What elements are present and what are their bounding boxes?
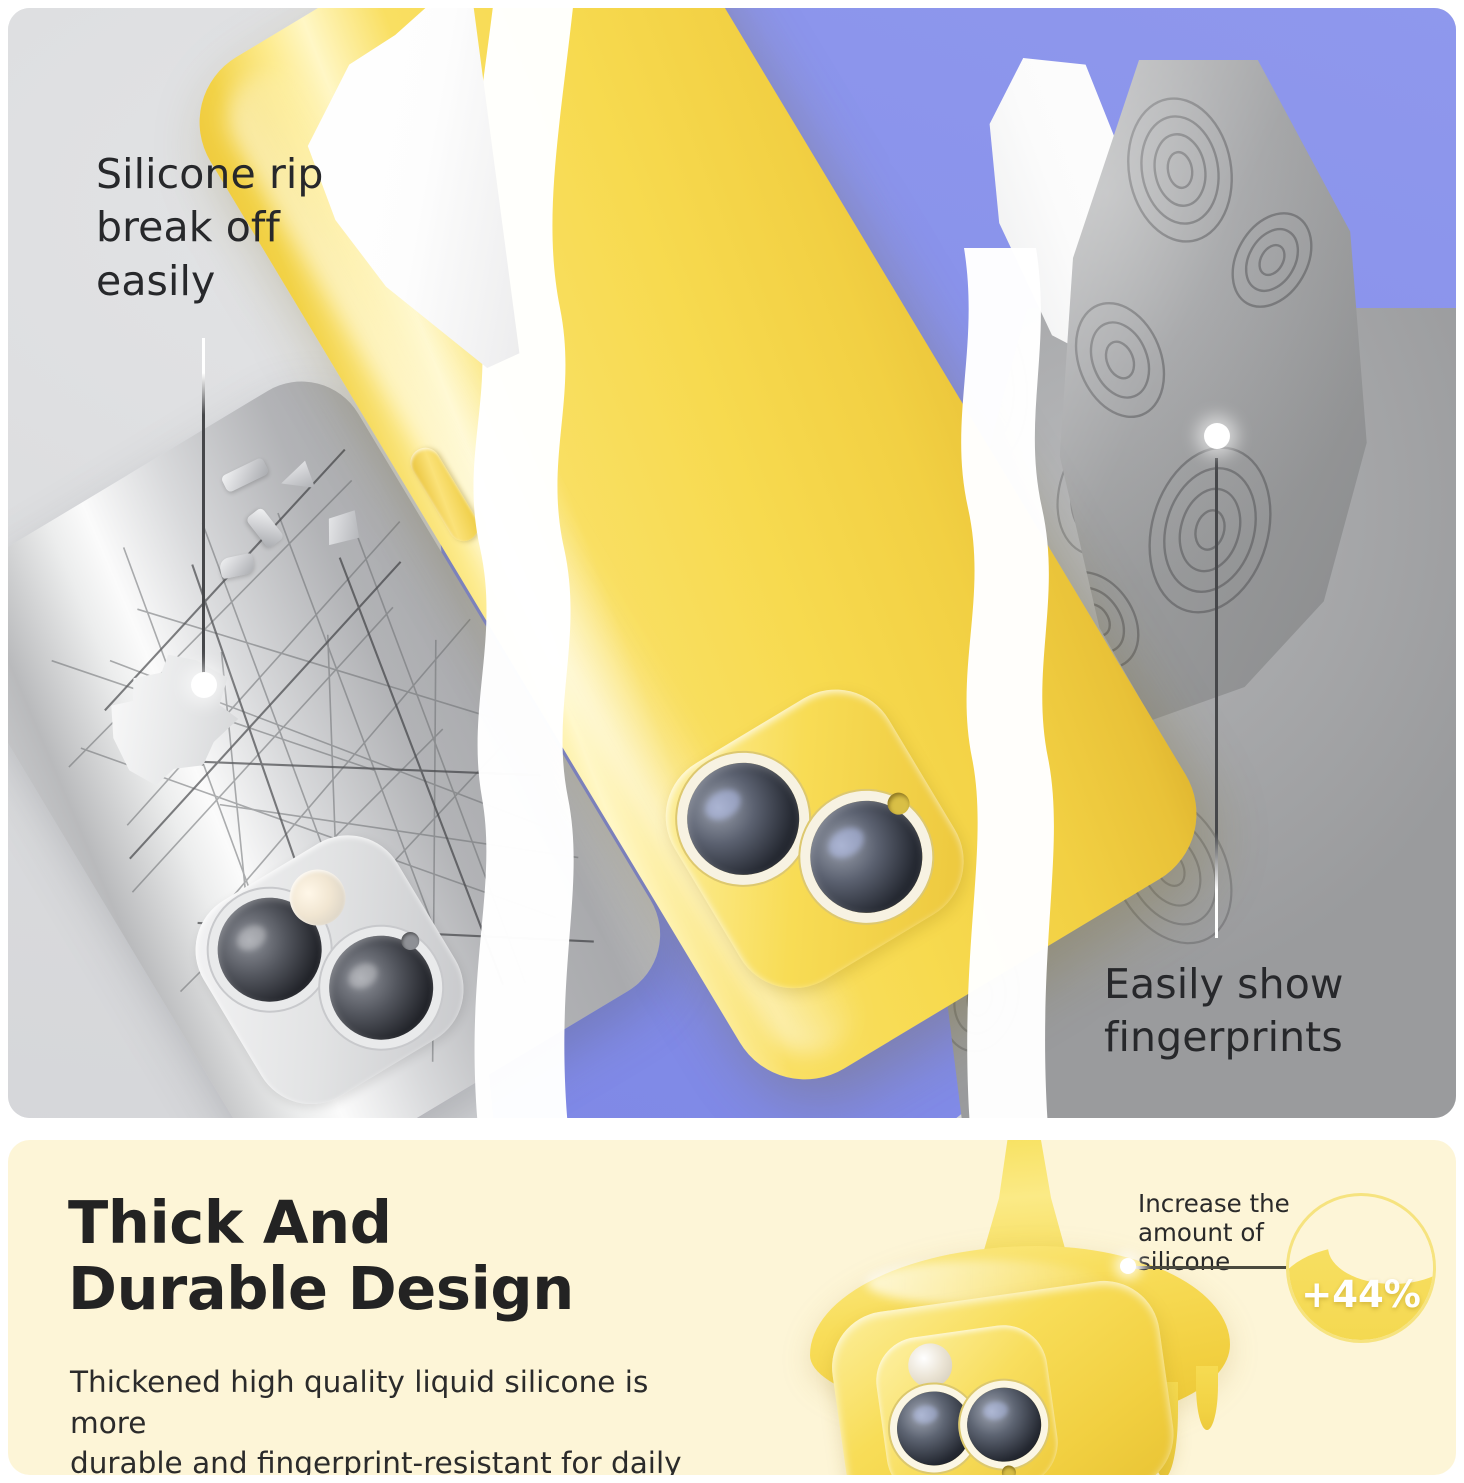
- fingerprints-label: Easily show fingerprints: [1104, 958, 1344, 1065]
- callout-line-right: [1215, 458, 1218, 938]
- callout-line-left: [202, 338, 205, 688]
- product-feature-image: Silicone rip break off easily Easily sho…: [0, 0, 1464, 1483]
- flash-icon: [905, 1341, 955, 1391]
- body-copy: Thickened high quality liquid silicone i…: [70, 1362, 730, 1475]
- silicone-drip: [1196, 1366, 1218, 1430]
- camera-island: [871, 1320, 1064, 1475]
- callout-dot-left: [191, 672, 217, 698]
- silicone-rip-label: Silicone rip break off easily: [96, 148, 324, 308]
- camera-lens: [962, 1383, 1046, 1467]
- top-feature-panel: Silicone rip break off easily Easily sho…: [8, 8, 1456, 1118]
- callout-dot-silicone: [1120, 1258, 1136, 1274]
- microphone-hole: [1001, 1465, 1017, 1475]
- badge-value: +44%: [1289, 1273, 1433, 1316]
- camera-lens: [310, 916, 453, 1059]
- callout-dot-right: [1204, 423, 1230, 449]
- fill-level-badge: +44%: [1286, 1193, 1436, 1343]
- page-title: Thick And Durable Design: [68, 1190, 574, 1322]
- callout-rule: [1132, 1266, 1292, 1269]
- camera-lens: [892, 1387, 976, 1471]
- increase-silicone-label: Increase the amount of silicone: [1138, 1190, 1290, 1277]
- camera-lens: [789, 780, 943, 934]
